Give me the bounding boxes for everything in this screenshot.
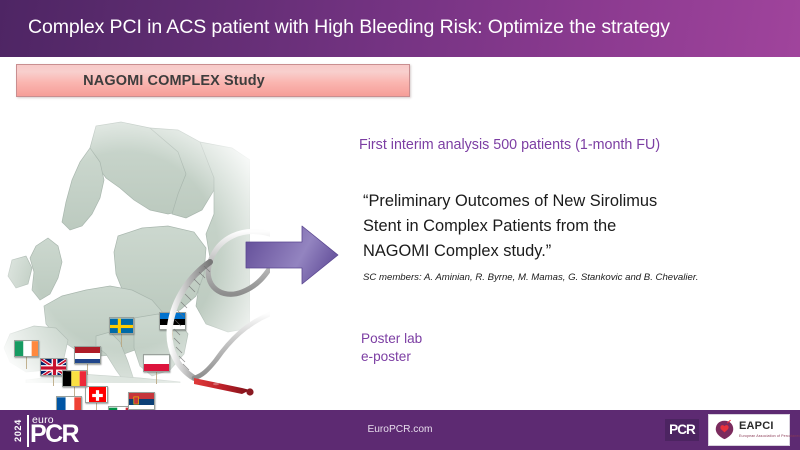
flag-switzerland	[85, 386, 108, 403]
study-title-quote: “Preliminary Outcomes of New Sirolimus S…	[363, 189, 763, 264]
eapci-logo: EAPCI European Association of Percutaneo…	[708, 414, 790, 446]
flag-pin-sweden	[121, 334, 122, 347]
interim-analysis-label: First interim analysis 500 patients (1-m…	[359, 137, 660, 153]
title-bar: Complex PCI in ACS patient with High Ble…	[0, 0, 800, 57]
quote-line-3: NAGOMI Complex study.”	[363, 239, 763, 264]
quote-line-2: Stent in Complex Patients from the	[363, 214, 763, 239]
quote-line-1: “Preliminary Outcomes of New Sirolimus	[363, 189, 763, 214]
study-name-badge: NAGOMI COMPLEX Study	[16, 64, 410, 97]
flag-netherlands	[74, 346, 101, 364]
eapci-subtitle-label: European Association of Percutaneous Car…	[739, 434, 800, 438]
slide-title: Complex PCI in ACS patient with High Ble…	[28, 16, 670, 39]
poster-lab-label: Poster lab	[361, 330, 422, 348]
eapci-name-label: EAPCI	[739, 420, 774, 432]
pcr-badge-logo: PCR	[665, 419, 699, 441]
flow-arrow	[244, 224, 340, 286]
flag-ireland	[14, 340, 39, 357]
flag-pin-belgium	[74, 387, 75, 396]
steering-committee-members: SC members: A. Aminian, R. Byrne, M. Mam…	[363, 272, 698, 283]
flag-pin-ireland	[26, 357, 27, 369]
poster-info: Poster lab e-poster	[361, 330, 422, 366]
study-name-label: NAGOMI COMPLEX Study	[17, 73, 409, 89]
slide-canvas: Complex PCI in ACS patient with High Ble…	[0, 0, 800, 450]
europe-map-panel	[0, 118, 250, 383]
flag-pin-netherlands	[87, 364, 88, 375]
e-poster-label: e-poster	[361, 348, 422, 366]
flag-pin-united-kingdom	[53, 376, 54, 386]
eapci-heart-icon	[714, 419, 735, 440]
flag-belgium	[62, 370, 87, 387]
